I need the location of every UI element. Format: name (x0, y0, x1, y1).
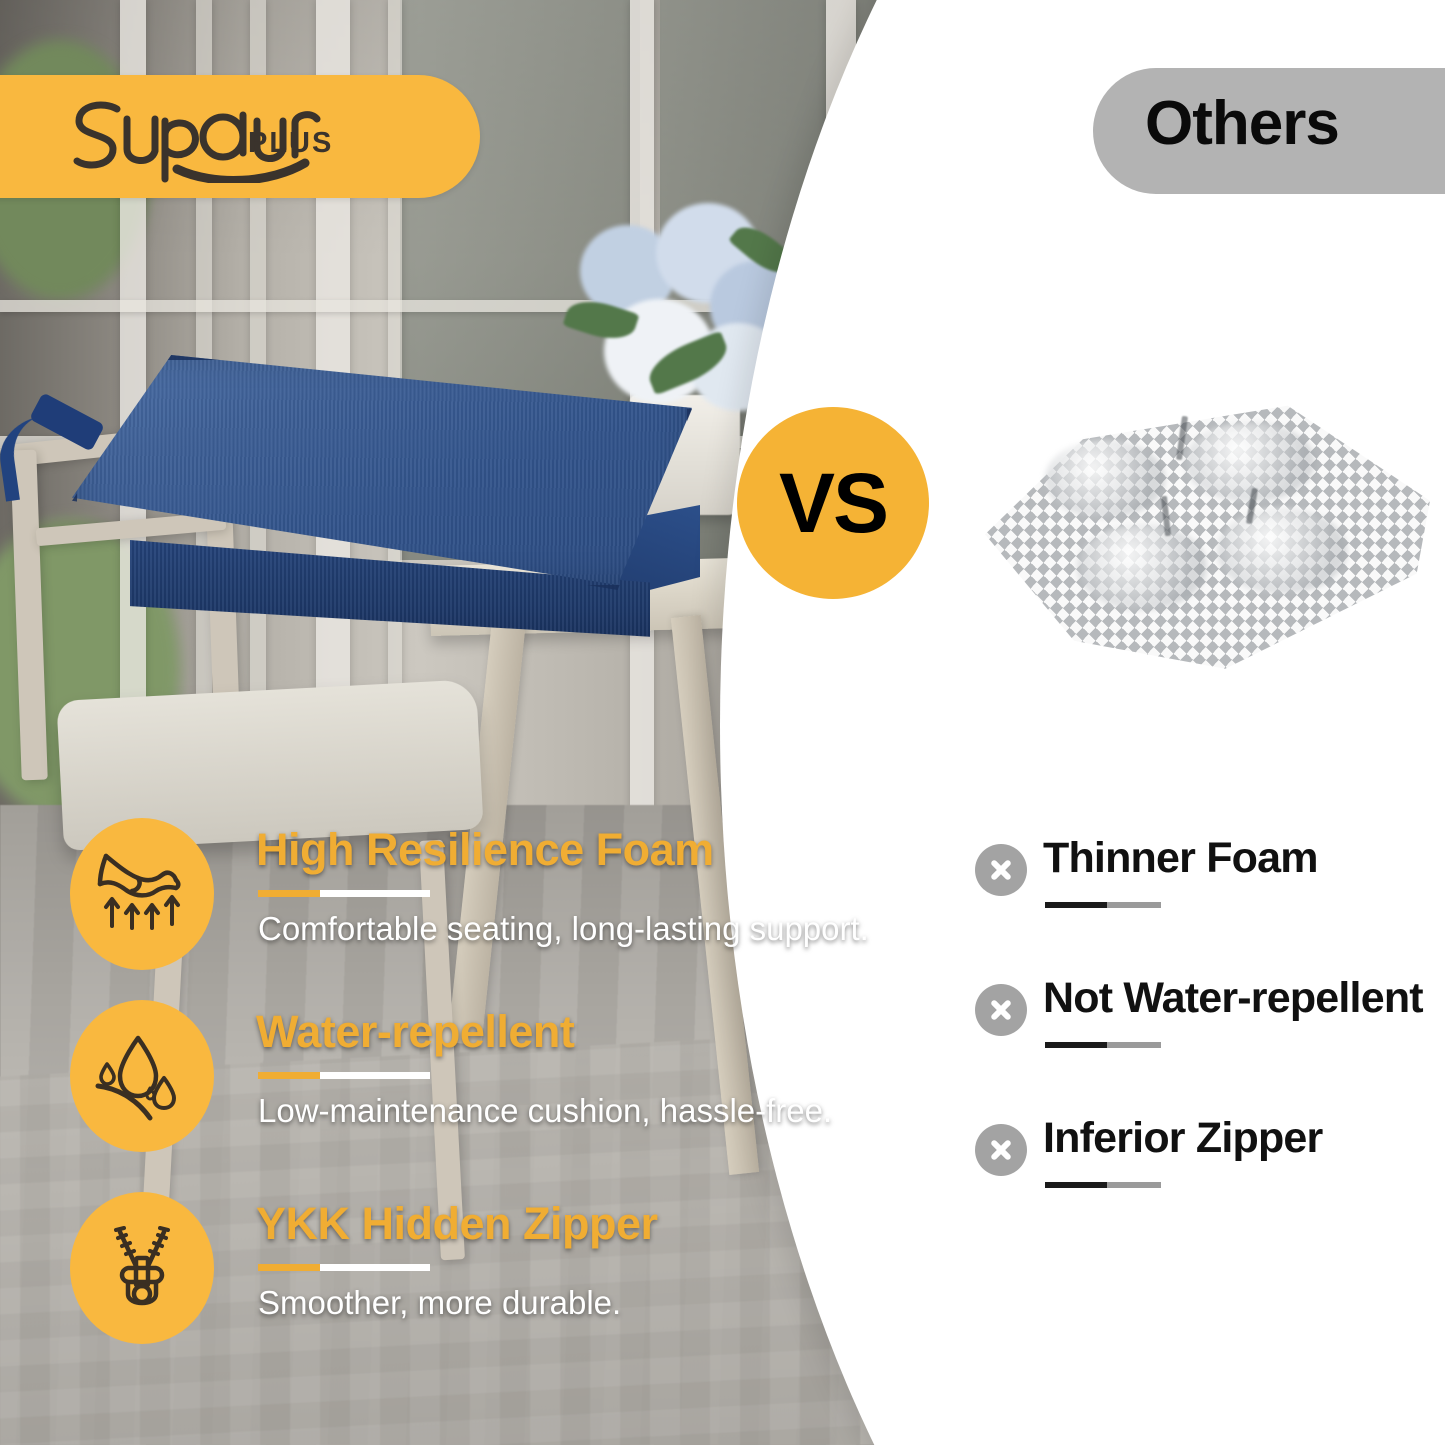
zipper-icon (70, 1192, 214, 1344)
con-title: Inferior Zipper (1043, 1114, 1322, 1163)
feature-divider (258, 1072, 430, 1079)
feature-divider (258, 890, 430, 897)
feature-title: High Resilience Foam (256, 824, 714, 876)
con-divider (1045, 1042, 1161, 1048)
con-row-not-water-repellent: Not Water-repellent (975, 972, 1445, 1102)
feature-subtitle: Comfortable seating, long-lasting suppor… (258, 910, 869, 948)
circle-x-icon (975, 984, 1027, 1036)
feature-divider (258, 1264, 430, 1271)
foam-support-hand-arrows-icon (70, 818, 214, 970)
feature-title: YKK Hidden Zipper (256, 1198, 658, 1250)
feature-title: Water-repellent (256, 1006, 574, 1058)
others-label: Others (1145, 88, 1445, 159)
con-title: Thinner Foam (1043, 834, 1318, 883)
brand-logo-pill: PLUS (0, 75, 480, 198)
circle-x-icon (975, 1124, 1027, 1176)
product-image-other-cushion (985, 400, 1430, 680)
product-image-supdur-cushion (0, 345, 720, 695)
vs-label: VS (779, 455, 887, 552)
con-row-thinner-foam: Thinner Foam (975, 832, 1445, 962)
con-title: Not Water-repellent (1043, 974, 1423, 1023)
con-row-inferior-zipper: Inferior Zipper (975, 1112, 1445, 1242)
logo-plus-suffix: PLUS (248, 127, 333, 160)
feature-row-water-repellent: Water-repellent Low-maintenance cushion,… (70, 1000, 790, 1160)
con-divider (1045, 1182, 1161, 1188)
feature-row-high-resilience-foam: High Resilience Foam Comfortable seating… (70, 818, 790, 978)
feature-row-ykk-hidden-zipper: YKK Hidden Zipper Smoother, more durable… (70, 1192, 790, 1352)
water-droplet-repellent-icon (70, 1000, 214, 1152)
circle-x-icon (975, 844, 1027, 896)
infographic-canvas: PLUS Others VS (0, 0, 1445, 1445)
feature-subtitle: Smoother, more durable. (258, 1284, 621, 1322)
feature-subtitle: Low-maintenance cushion, hassle-free. (258, 1092, 832, 1130)
con-divider (1045, 902, 1161, 908)
vs-badge: VS (737, 407, 929, 599)
